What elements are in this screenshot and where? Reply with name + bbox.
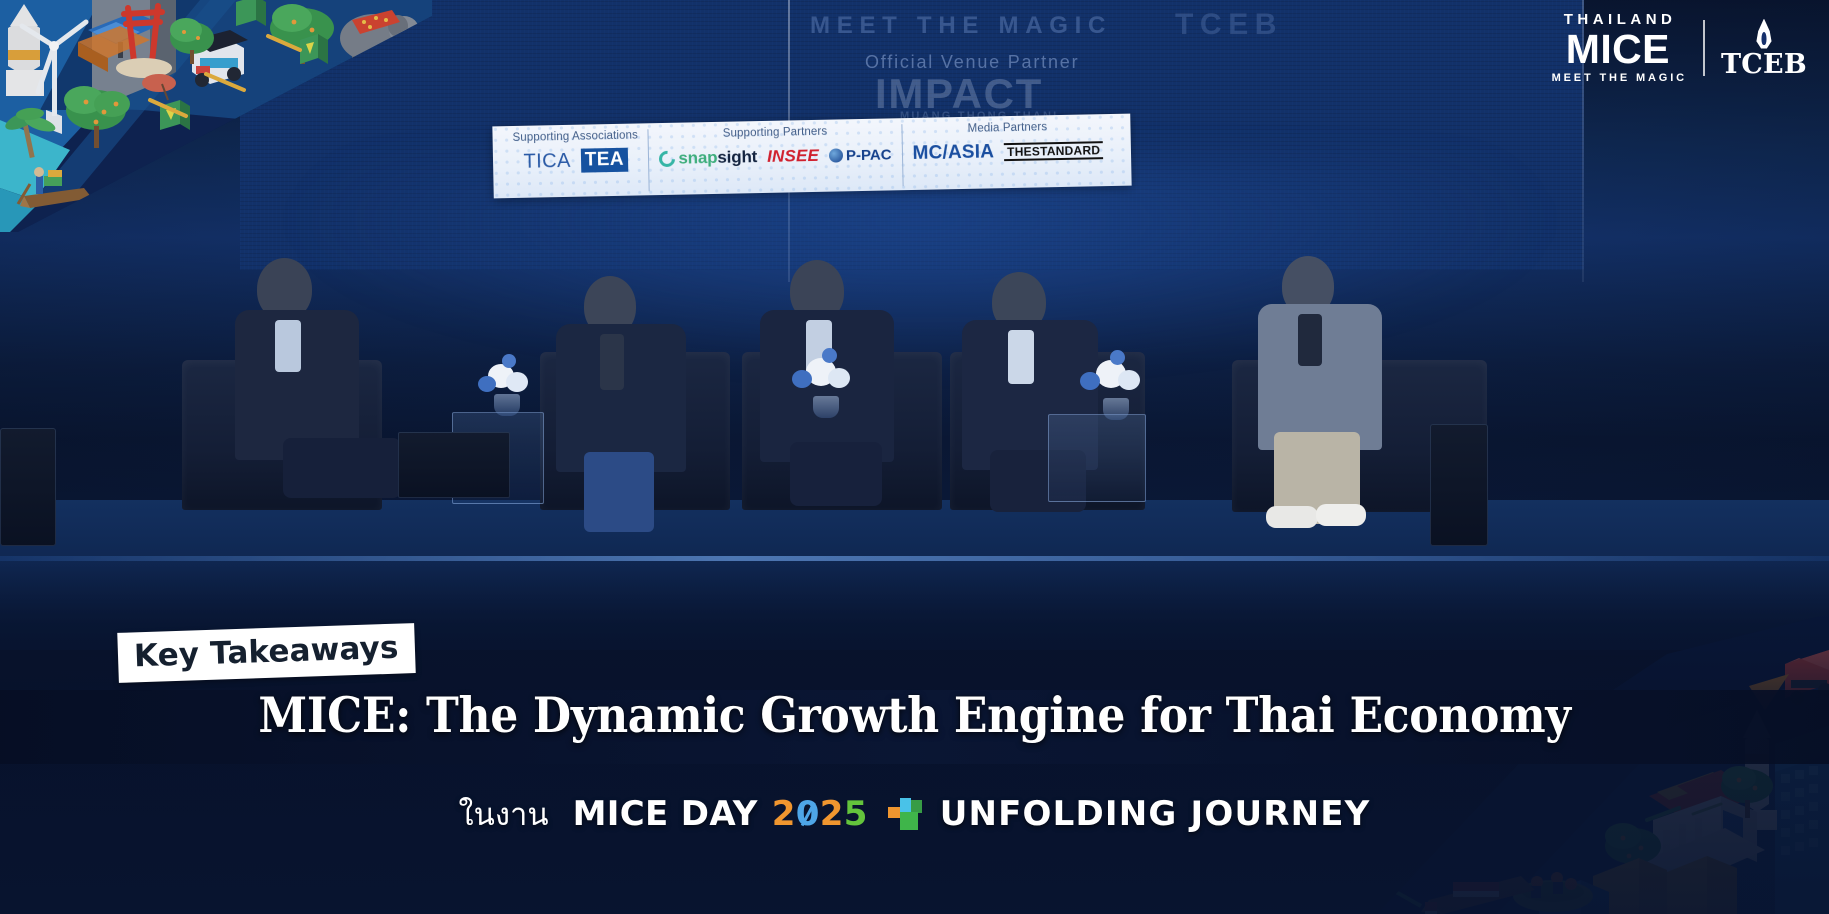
flower-bloom	[822, 348, 837, 363]
unfolding-journey-logo-mark-icon	[888, 798, 922, 830]
speaker-2-shirt	[600, 334, 624, 390]
flame-icon	[1753, 19, 1775, 49]
mice-wordmark: MICE	[1566, 29, 1670, 70]
iso-art-tl-svg	[0, 0, 432, 232]
year-digit-3: 2	[820, 794, 844, 834]
speaker-5-shoe-right	[1316, 504, 1366, 526]
tceb-logo: TCEB	[1721, 19, 1807, 78]
page-title: MICE: The Dynamic Growth Engine for Thai…	[91, 686, 1737, 744]
year-digit-2: 0	[796, 794, 820, 834]
thailand-label: THAILAND	[1559, 12, 1676, 27]
speaker-2-jeans	[584, 452, 654, 532]
side-table-2	[1048, 414, 1146, 502]
speaker-5-shirt	[1298, 314, 1322, 366]
flower-bloom	[792, 370, 812, 388]
flower-bloom	[506, 372, 528, 392]
brand-lockup: THAILAND MICE MEET THE MAGIC TCEB	[1549, 12, 1807, 84]
flower-bloom	[478, 376, 496, 392]
speaker-1-shirt	[275, 320, 301, 372]
stage-monitor-1	[398, 432, 510, 498]
speaker-2	[556, 276, 706, 514]
event-theme-wordmark: UNFOLDING JOURNEY	[940, 794, 1371, 834]
speaker-5-moderator	[1258, 256, 1408, 536]
speaker-1	[235, 258, 385, 510]
stage-speaker-right	[1430, 424, 1488, 546]
speaker-5-shoe-left	[1266, 506, 1318, 528]
flower-arrangement-2	[786, 346, 866, 418]
flower-bloom	[828, 368, 850, 388]
year-digit-4: 5	[844, 794, 868, 834]
flower-bloom	[1110, 350, 1125, 365]
flower-arrangement-1	[472, 350, 542, 416]
mark-shape-green-2	[911, 800, 922, 813]
flower-vase	[813, 396, 839, 418]
speaker-1-legs	[283, 438, 401, 498]
speaker-4-shirt	[1008, 330, 1034, 384]
flower-arrangement-3	[1074, 348, 1158, 420]
flower-bloom	[1118, 370, 1140, 390]
flower-bloom	[502, 354, 516, 368]
mark-shape-green	[900, 812, 918, 830]
event-lockup: ในงาน MICE DAY 2025 UNFOLDING JOURNEY	[0, 789, 1829, 839]
thailand-mice-logo: THAILAND MICE MEET THE MAGIC	[1549, 12, 1687, 84]
stage-speaker-left	[0, 428, 56, 546]
thai-prefix-label: ในงาน	[458, 789, 548, 839]
meet-the-magic-tagline: MEET THE MAGIC	[1549, 73, 1687, 84]
speaker-3-legs	[790, 442, 882, 506]
tceb-wordmark: TCEB	[1721, 51, 1807, 78]
flower-vase	[494, 394, 520, 416]
flower-vase	[1103, 398, 1129, 420]
key-takeaways-badge: Key Takeaways	[117, 623, 415, 683]
isometric-illustration-top-left	[0, 0, 432, 232]
event-key-visual: MEET THE MAGIC TCEB Official Venue Partn…	[0, 0, 1829, 914]
year-digit-1: 2	[772, 794, 796, 834]
event-year: 2025	[772, 794, 868, 834]
brand-divider	[1703, 20, 1705, 76]
mice-day-wordmark: MICE DAY	[573, 794, 758, 834]
flower-bloom	[1080, 372, 1100, 390]
